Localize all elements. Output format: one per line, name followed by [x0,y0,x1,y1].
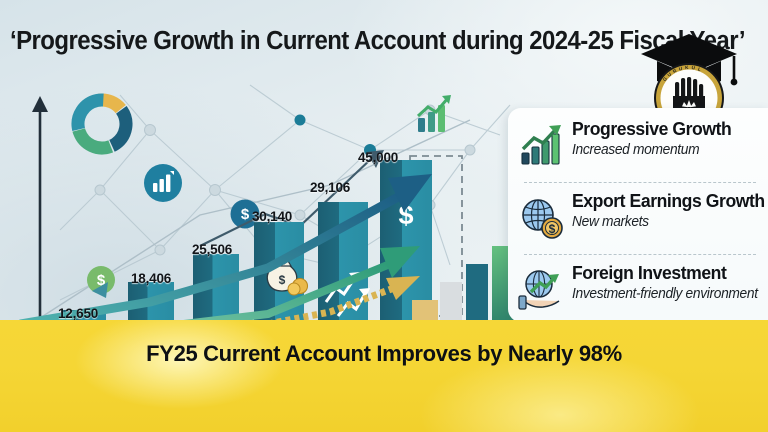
bar-label-4: 29,106 [310,180,350,195]
donut-chart-icon [69,91,136,158]
page-title: ‘Progressive Growth in Current Account d… [10,29,713,55]
bar-chart: $ $ $ [0,86,520,330]
globe-coin-icon: $ [517,194,565,242]
svg-text:$: $ [549,222,556,236]
bar-chart-circle-icon [144,164,182,202]
bar-label-5: 45,000 [358,150,398,165]
svg-text:$: $ [241,206,250,223]
feature-subtitle: New markets [572,214,649,230]
svg-text:$: $ [279,273,286,287]
bar-label-0: 12,650 [58,306,98,321]
bar-label-1: 18,406 [131,271,171,286]
feature-title: Foreign Investment [572,262,726,284]
infographic-root: ‘Progressive Growth in Current Account d… [0,0,768,432]
divider [524,254,756,255]
feature-subtitle: Investment-friendly environment [572,286,758,302]
growth-chart-arrow-icon [517,122,565,170]
bottom-banner [0,320,768,432]
feature-subtitle: Increased momentum [572,142,699,158]
features-panel: Progressive Growth Increased momentum $ … [508,108,768,322]
feature-item-foreign-investment[interactable]: Foreign Investment Investment-friendly e… [508,258,768,324]
bar-label-2: 25,506 [192,242,232,257]
growth-bars-arrow-icon [418,95,451,132]
feature-title: Progressive Growth [572,118,731,140]
feature-title: Export Earnings Growth [572,190,765,212]
y-axis-arrow-icon [32,96,48,330]
banner-headline: FY25 Current Account Improves by Nearly … [0,341,768,367]
feature-item-export-earnings-growth[interactable]: $ Export Earnings Growth New markets [508,186,768,252]
globe-in-hand-arrow-icon [517,266,565,314]
feature-item-progressive-growth[interactable]: Progressive Growth Increased momentum [508,114,768,180]
bar-label-3: 30,140 [252,209,292,224]
divider [524,182,756,183]
